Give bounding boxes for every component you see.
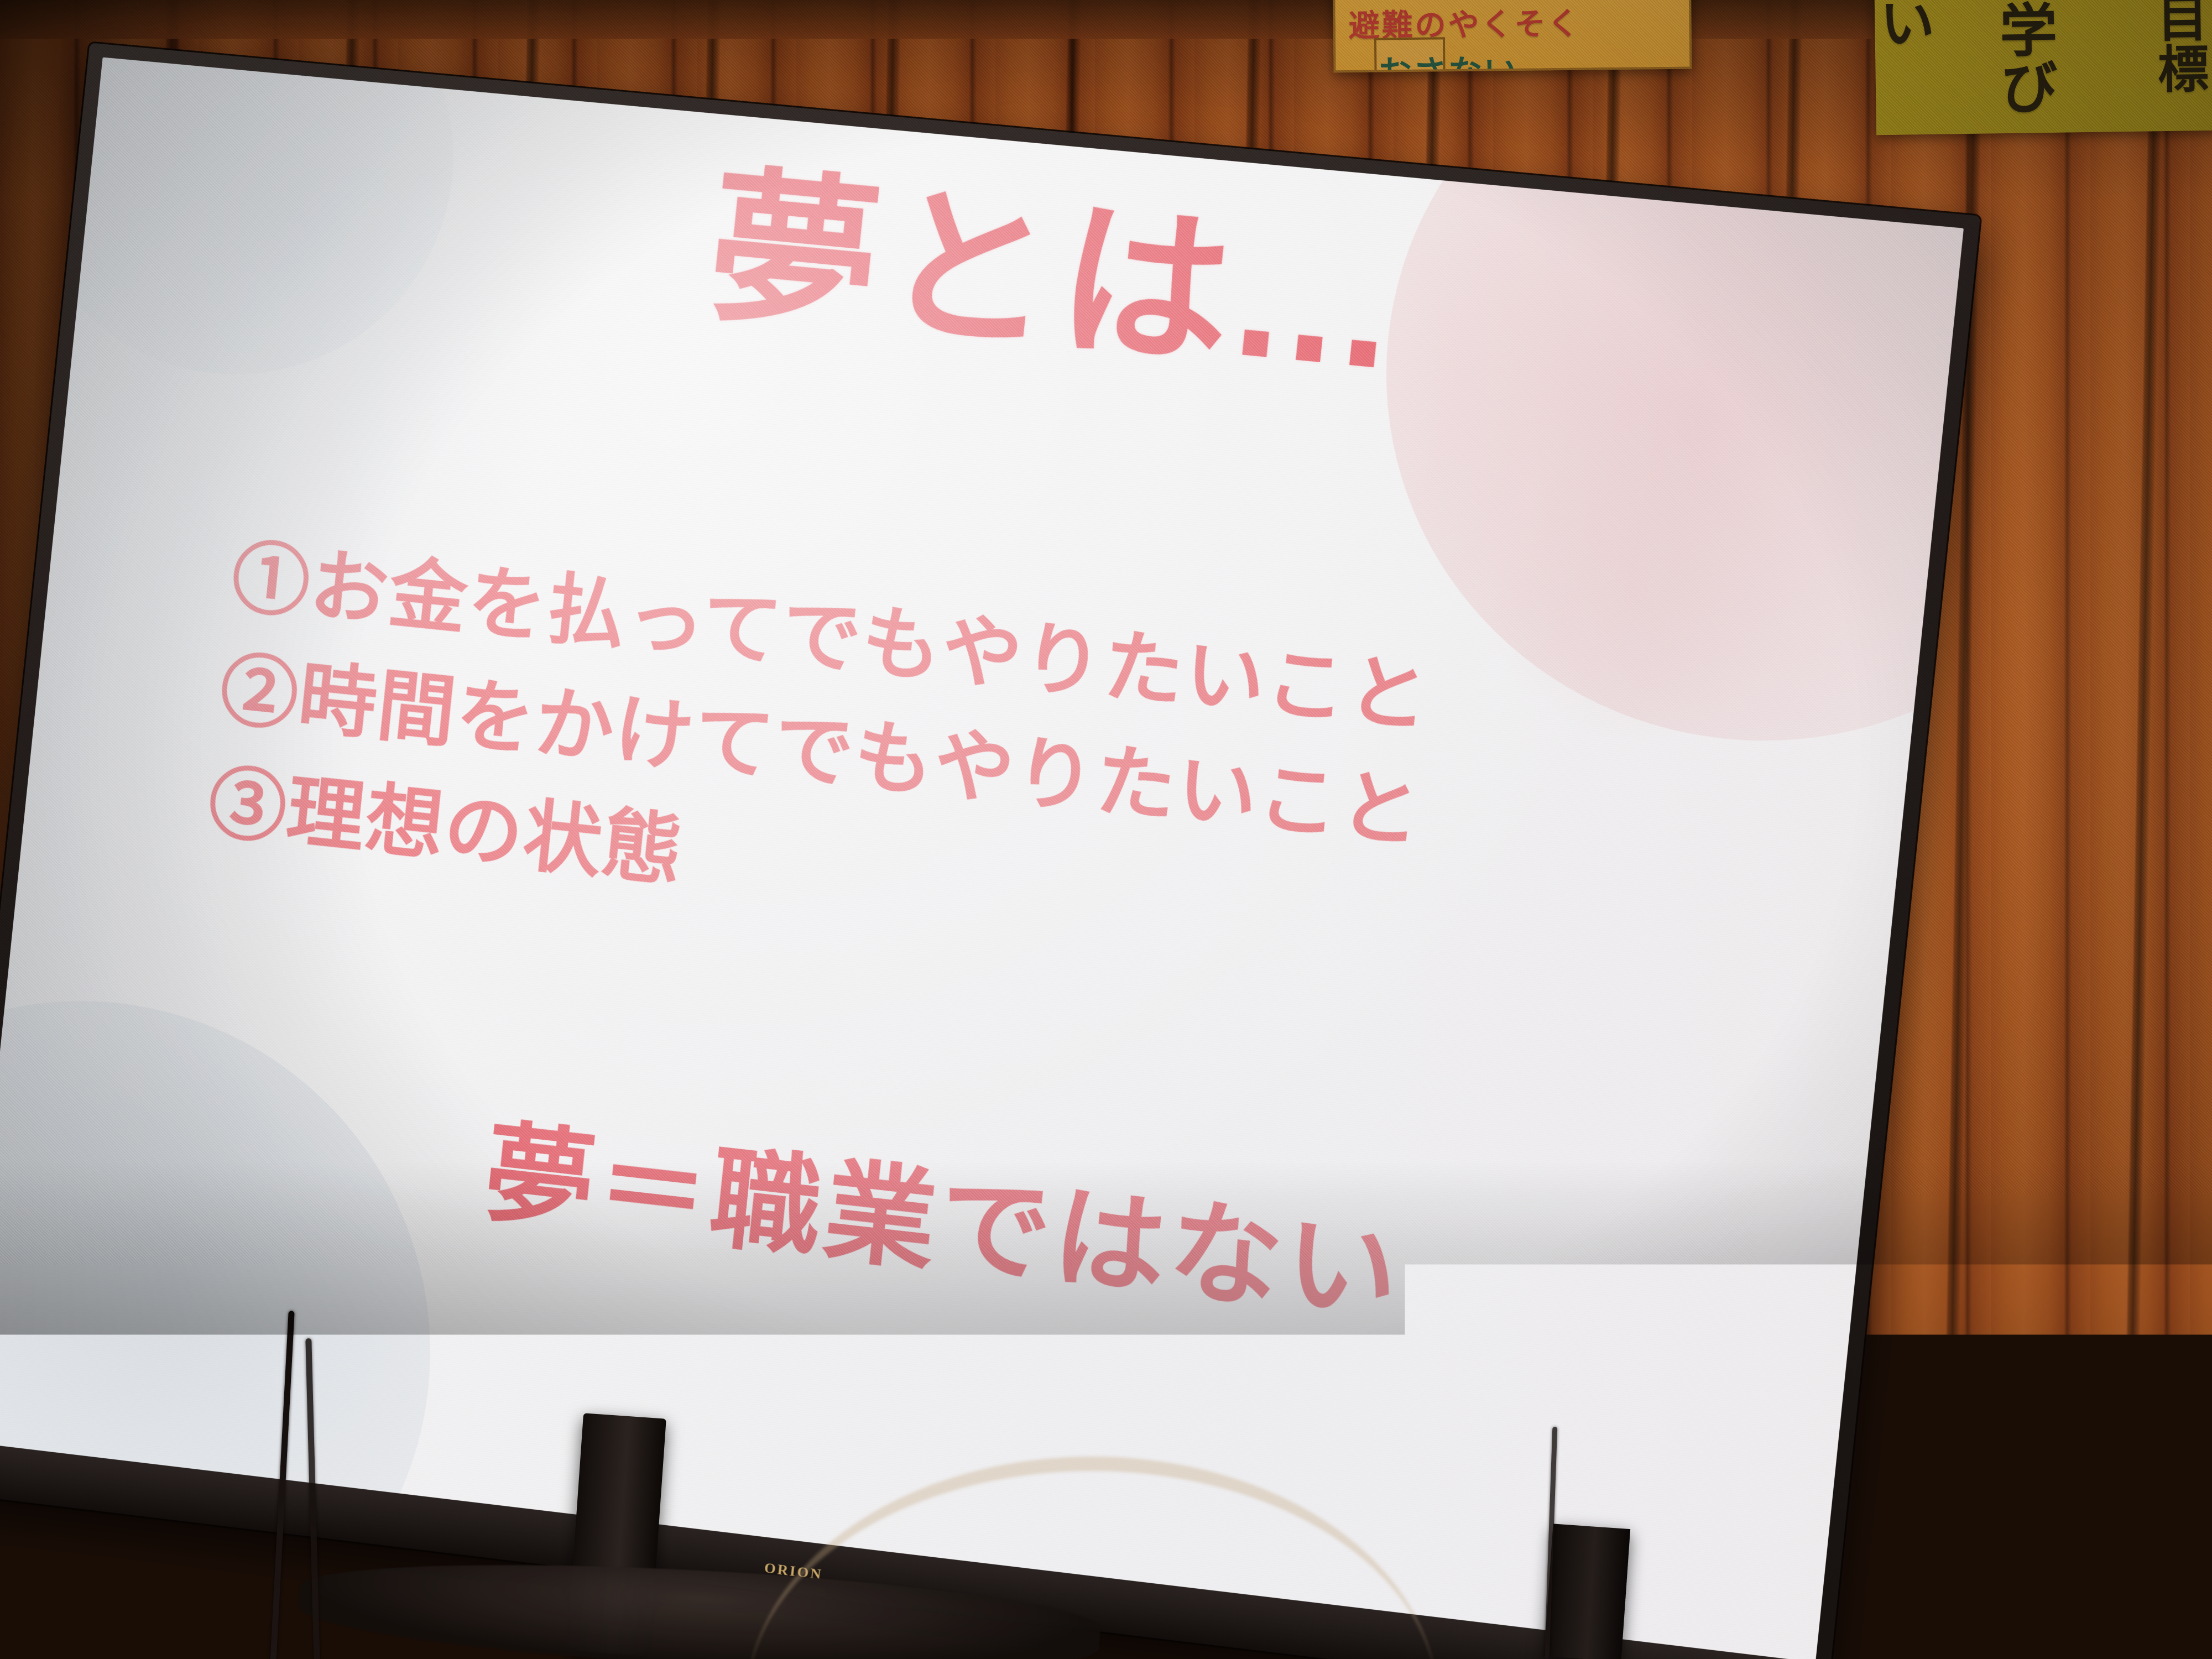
wall-shadow-bottom <box>0 1161 2212 1659</box>
evacuation-rules-poster: 避難のやくそく おさない <box>1332 0 1692 72</box>
goal-poster-column-2: 学び <box>1993 0 2053 116</box>
goal-poster-column-3: い <box>1874 0 1931 50</box>
goal-poster-column-1: 目標 <box>2151 0 2204 93</box>
goal-poster: 目標 学び い <box>1873 0 2212 135</box>
poster-sub-evacuation: おさない <box>1377 44 1519 73</box>
photo-scene: 避難のやくそく おさない 目標 学び い 夢とは... <box>0 0 2212 1659</box>
